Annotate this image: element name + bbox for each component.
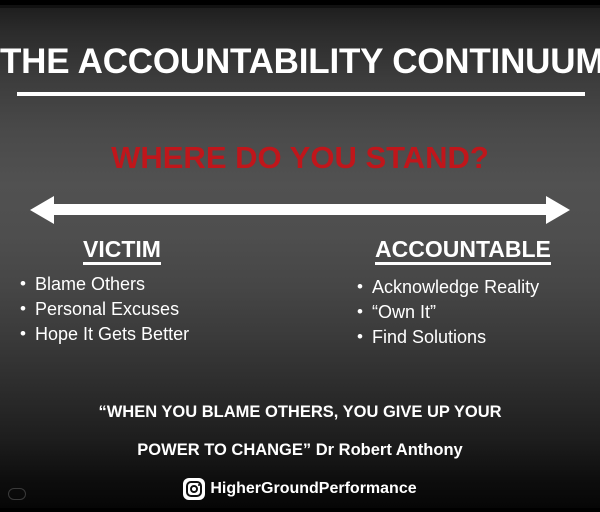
arrow-left-icon	[30, 196, 54, 224]
corner-mark	[8, 488, 26, 500]
social-handle: HigherGroundPerformance	[210, 480, 416, 498]
list-item: Blame Others	[18, 272, 189, 297]
list-item: Personal Excuses	[18, 297, 189, 322]
accountable-traits-list: Acknowledge Reality “Own It” Find Soluti…	[355, 275, 539, 350]
column-heading-accountable: ACCOUNTABLE	[375, 237, 551, 265]
list-item: Acknowledge Reality	[355, 275, 539, 300]
top-border-bar-secondary	[0, 5, 600, 8]
list-item: “Own It”	[355, 300, 539, 325]
arrow-right-icon	[546, 196, 570, 224]
title-underline	[17, 92, 585, 96]
subtitle: WHERE DO YOU STAND?	[0, 140, 600, 176]
arrow-shaft	[52, 204, 548, 215]
quote-line-1: “WHEN YOU BLAME OTHERS, YOU GIVE UP YOUR	[0, 393, 600, 431]
footer-credit: HigherGroundPerformance	[0, 478, 600, 500]
bottom-border-bar	[0, 508, 600, 512]
page-title: THE ACCOUNTABILITY CONTINUUM	[0, 42, 600, 82]
column-heading-victim: VICTIM	[83, 237, 161, 265]
quote-block: “WHEN YOU BLAME OTHERS, YOU GIVE UP YOUR…	[0, 393, 600, 469]
continuum-arrow	[30, 196, 570, 224]
list-item: Hope It Gets Better	[18, 322, 189, 347]
quote-line-2: POWER TO CHANGE” Dr Robert Anthony	[0, 431, 600, 469]
victim-traits-list: Blame Others Personal Excuses Hope It Ge…	[18, 272, 189, 347]
instagram-icon	[183, 478, 205, 500]
list-item: Find Solutions	[355, 325, 539, 350]
slide-canvas: THE ACCOUNTABILITY CONTINUUM WHERE DO YO…	[0, 0, 600, 512]
